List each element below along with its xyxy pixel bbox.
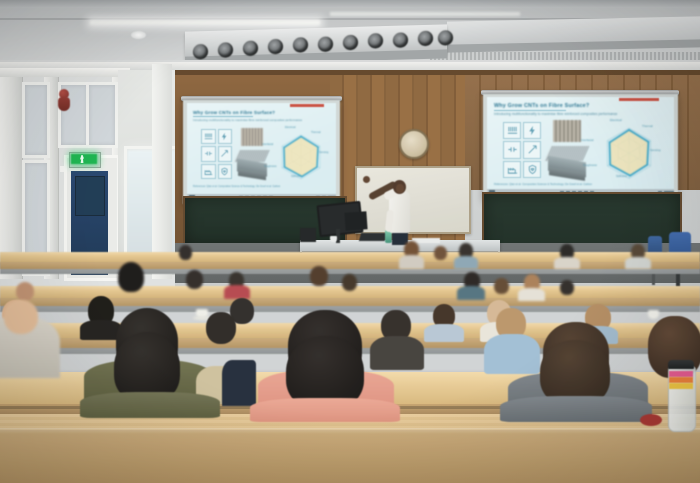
presenter-hand xyxy=(363,176,370,183)
student-torso-foreground xyxy=(250,398,400,422)
bottle-stripe-yellow xyxy=(669,383,693,389)
student-head xyxy=(206,312,236,344)
front-desk-surface xyxy=(0,430,700,483)
red-object xyxy=(640,414,662,426)
bottle-cap xyxy=(668,360,694,369)
student-torso-foreground xyxy=(500,396,652,422)
presenter-face xyxy=(396,184,404,193)
student-sleeve xyxy=(222,360,256,406)
student-torso xyxy=(484,334,540,374)
front-desk-highlight xyxy=(0,428,700,434)
student-torso xyxy=(370,336,424,370)
student-head-left xyxy=(4,300,38,334)
student-head xyxy=(310,266,328,286)
lecture-theatre-photo: Why Grow CNTs on Fibre Surface? Introduc… xyxy=(0,0,700,483)
student-torso-foreground xyxy=(80,392,220,418)
